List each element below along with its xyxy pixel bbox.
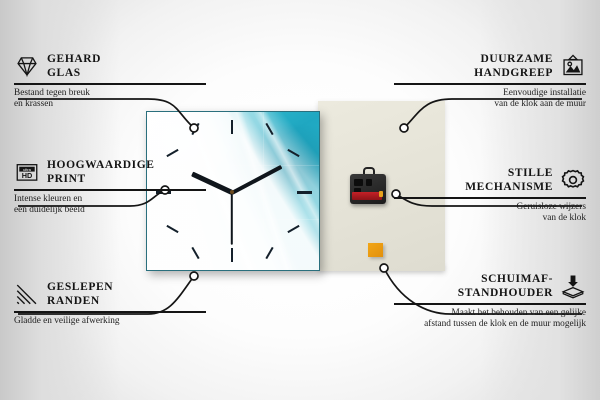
feature-title: STILLE MECHANISME bbox=[465, 166, 553, 194]
divider bbox=[14, 189, 206, 191]
feature-description: Bestand tegen breuk en krassen bbox=[14, 88, 206, 111]
divider bbox=[394, 303, 586, 305]
feature-gehard-glas: GEHARD GLAS Bestand tegen breuk en krass… bbox=[14, 52, 206, 111]
feature-title: SCHUIMAF- STANDHOUDER bbox=[458, 272, 553, 300]
feature-description: Eenvoudige installatie van de klok aan d… bbox=[394, 88, 586, 111]
feature-duurzame-handgreep: DUURZAME HANDGREEP Eenvoudige installati… bbox=[394, 52, 586, 111]
feature-title: DUURZAME HANDGREEP bbox=[474, 52, 553, 80]
hour-marker bbox=[297, 191, 312, 194]
clock-center-pin bbox=[230, 190, 234, 194]
feature-header: GEHARD GLAS bbox=[14, 52, 206, 80]
feature-header: ultra HD HOOGWAARDIGE PRINT bbox=[14, 158, 206, 186]
ultra-hd-icon: ultra HD bbox=[14, 159, 40, 185]
clock-hand-second bbox=[231, 193, 233, 245]
feature-header: SCHUIMAF- STANDHOUDER bbox=[394, 272, 586, 300]
hour-marker bbox=[231, 248, 233, 262]
diamond-icon bbox=[14, 53, 40, 79]
picture-frame-icon bbox=[560, 53, 586, 79]
gear-icon bbox=[560, 167, 586, 193]
feature-geslepen-randen: GESLEPEN RANDEN Gladde en veilige afwerk… bbox=[14, 280, 206, 327]
pane-line bbox=[263, 112, 264, 270]
feature-description: Gladde en veilige afwerking bbox=[14, 316, 206, 328]
infographic-canvas: GEHARD GLAS Bestand tegen breuk en krass… bbox=[0, 0, 600, 400]
feature-hoogwaardige-print: ultra HD HOOGWAARDIGE PRINT Intense kleu… bbox=[14, 158, 206, 217]
divider bbox=[14, 311, 206, 313]
feature-description: Maakt het behouden van een gelijke afsta… bbox=[384, 308, 586, 331]
diagonal-lines-icon bbox=[14, 281, 40, 307]
divider bbox=[14, 83, 206, 85]
feature-description: Geruisloze wijzers van de klok bbox=[394, 202, 586, 225]
battery-terminal bbox=[379, 191, 383, 197]
foam-spacer-pad bbox=[368, 243, 383, 257]
divider bbox=[394, 197, 586, 199]
pane-line bbox=[147, 219, 319, 220]
feature-header: DUURZAME HANDGREEP bbox=[394, 52, 586, 80]
feature-title: GEHARD GLAS bbox=[47, 52, 101, 80]
feature-title: GESLEPEN RANDEN bbox=[47, 280, 113, 308]
mechanism-battery bbox=[352, 192, 382, 200]
feature-schuimafstandhouder: SCHUIMAF- STANDHOUDER Maakt het behouden… bbox=[394, 272, 586, 331]
svg-text:HD: HD bbox=[22, 171, 33, 180]
mechanism-notch bbox=[354, 179, 363, 186]
hour-marker bbox=[231, 120, 233, 134]
feature-description: Intense kleuren en een duidelijk beeld bbox=[14, 194, 206, 217]
feature-stille-mechanisme: STILLE MECHANISME Geruisloze wijzers van… bbox=[394, 166, 586, 225]
press-foam-icon bbox=[560, 273, 586, 299]
feature-header: STILLE MECHANISME bbox=[394, 166, 586, 194]
divider bbox=[394, 83, 586, 85]
feature-header: GESLEPEN RANDEN bbox=[14, 280, 206, 308]
mechanism-notch bbox=[366, 179, 372, 186]
feature-title: HOOGWAARDIGE PRINT bbox=[47, 158, 155, 186]
